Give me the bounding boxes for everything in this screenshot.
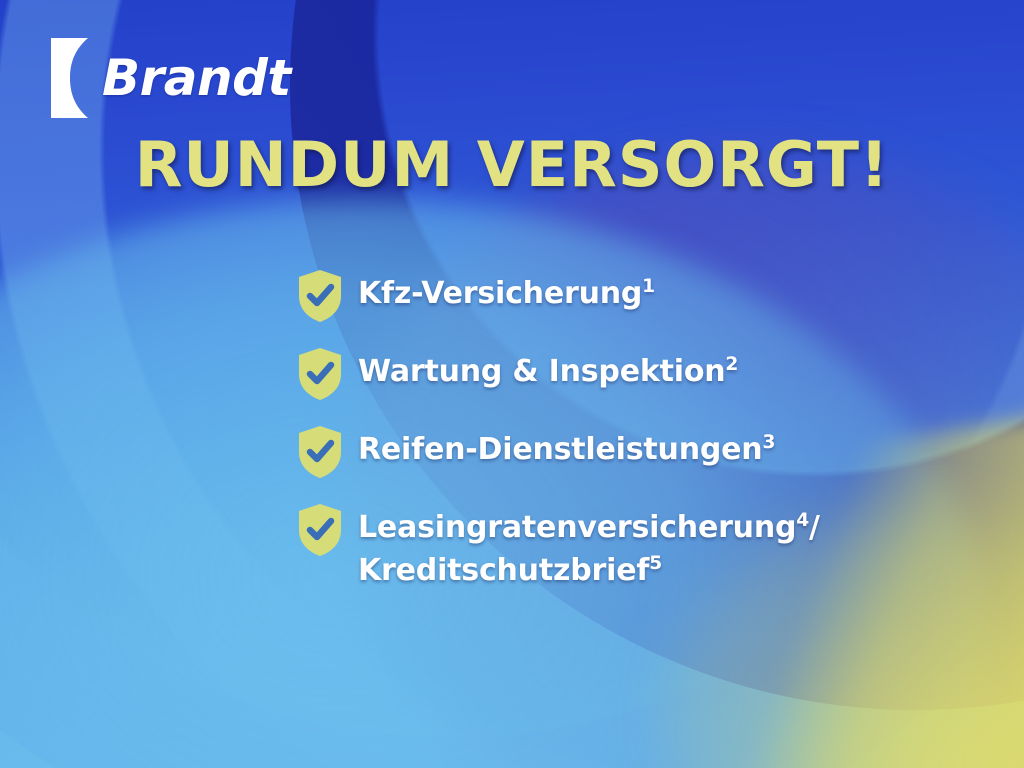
brand-logo: Brandt (48, 36, 291, 120)
footnote-marker: 3 (762, 432, 775, 453)
feature-label: Kfz-Versicherung1 (358, 268, 655, 316)
list-item: Kfz-Versicherung1 (296, 268, 986, 324)
poster-content: Brandt RUNDUM VERSORGT! Kfz-Versicherung… (0, 0, 1024, 768)
footnote-marker: 5 (649, 553, 662, 574)
shield-check-icon (296, 502, 344, 558)
brandt-bracket-mark-icon (48, 36, 102, 120)
feature-separator: / (809, 510, 820, 545)
feature-label-text-second: Kreditschutzbrief (358, 553, 649, 588)
feature-label-text: Kfz-Versicherung (358, 276, 642, 311)
feature-label-text: Wartung & Inspektion (358, 354, 725, 389)
brand-wordmark: Brandt (102, 53, 291, 103)
footnote-marker: 2 (725, 354, 738, 375)
feature-label-text: Leasingratenversicherung (358, 510, 796, 545)
feature-label: Leasingratenversicherung4/ Kreditschutzb… (358, 502, 820, 592)
feature-label-text: Reifen-Dienstleistungen (358, 432, 762, 467)
feature-label: Reifen-Dienstleistungen3 (358, 424, 775, 472)
shield-check-icon (296, 424, 344, 480)
page-title: RUNDUM VERSORGT! (0, 132, 1024, 197)
list-item: Wartung & Inspektion2 (296, 346, 986, 402)
list-item: Leasingratenversicherung4/ Kreditschutzb… (296, 502, 986, 592)
poster-canvas: Brandt RUNDUM VERSORGT! Kfz-Versicherung… (0, 0, 1024, 768)
list-item: Reifen-Dienstleistungen3 (296, 424, 986, 480)
footnote-marker: 4 (796, 510, 809, 531)
footnote-marker: 1 (642, 276, 655, 297)
feature-label: Wartung & Inspektion2 (358, 346, 738, 394)
shield-check-icon (296, 268, 344, 324)
shield-check-icon (296, 346, 344, 402)
feature-list: Kfz-Versicherung1 Wartung & Inspektion2 (296, 268, 986, 592)
